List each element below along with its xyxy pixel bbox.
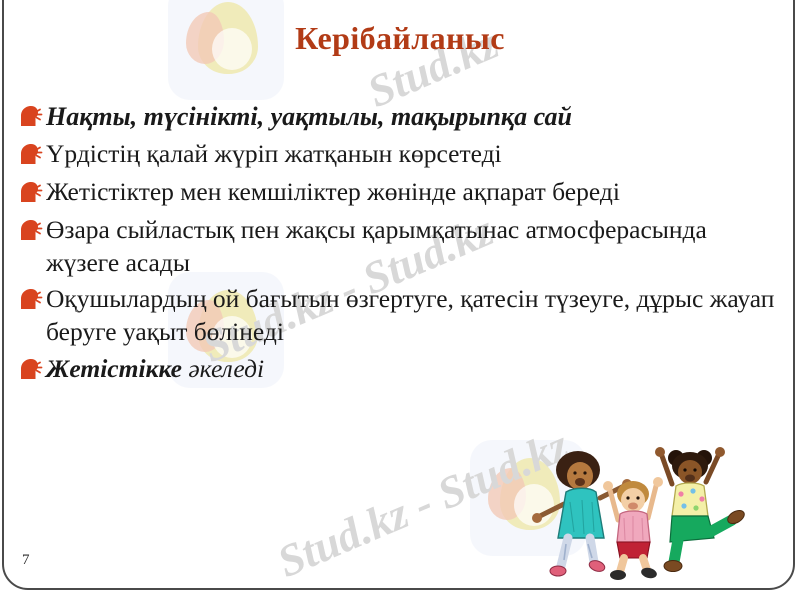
talking-head-icon [18,142,46,172]
list-item-label: Оқушылардың ой бағытын өзгертуге, қатесі… [46,283,778,348]
talking-head-icon [18,104,46,134]
watermark-text: Stud.kz [480,592,626,597]
bullet-list: Нақты, түсінікті, уақтылы, тақырыпқа сай… [18,100,778,391]
list-item-label: Жетістіктер мен кемшіліктер жөнінде ақпа… [46,176,778,209]
list-item: Үрдістің қалай жүріп жатқанын көрсетеді [18,138,778,172]
talking-head-icon [18,180,46,210]
list-item-label: Нақты, түсінікті, уақтылы, тақырыпқа сай [46,100,778,133]
talking-head-icon [18,287,46,317]
list-item: Нақты, түсінікті, уақтылы, тақырыпқа сай [18,100,778,134]
list-item: Оқушылардың ой бағытын өзгертуге, қатесі… [18,283,778,348]
child-right [655,447,747,572]
page-number: 7 [22,552,30,569]
list-item-label: Үрдістің қалай жүріп жатқанын көрсетеді [46,138,778,171]
three-jumping-children-illustration [520,442,770,582]
list-item: Өзара сыйластық пен жақсы қарымқатынас а… [18,214,778,279]
list-item: Жетістікке әкеледі [18,353,778,387]
talking-head-icon [18,218,46,248]
slide-canvas: Stud.kz Stud.kz - Stud.kz Stud.kz - Stud… [0,0,800,597]
slide-title: Керібайланыс [0,20,800,57]
list-item-label: Өзара сыйластық пен жақсы қарымқатынас а… [46,214,778,279]
list-item: Жетістіктер мен кемшіліктер жөнінде ақпа… [18,176,778,210]
list-item-label: Жетістікке әкеледі [46,353,778,386]
list-item-label-tail: әкеледі [182,354,264,383]
talking-head-icon [18,357,46,387]
list-item-label-lead: Жетістікке [46,354,182,383]
child-middle [603,477,663,580]
